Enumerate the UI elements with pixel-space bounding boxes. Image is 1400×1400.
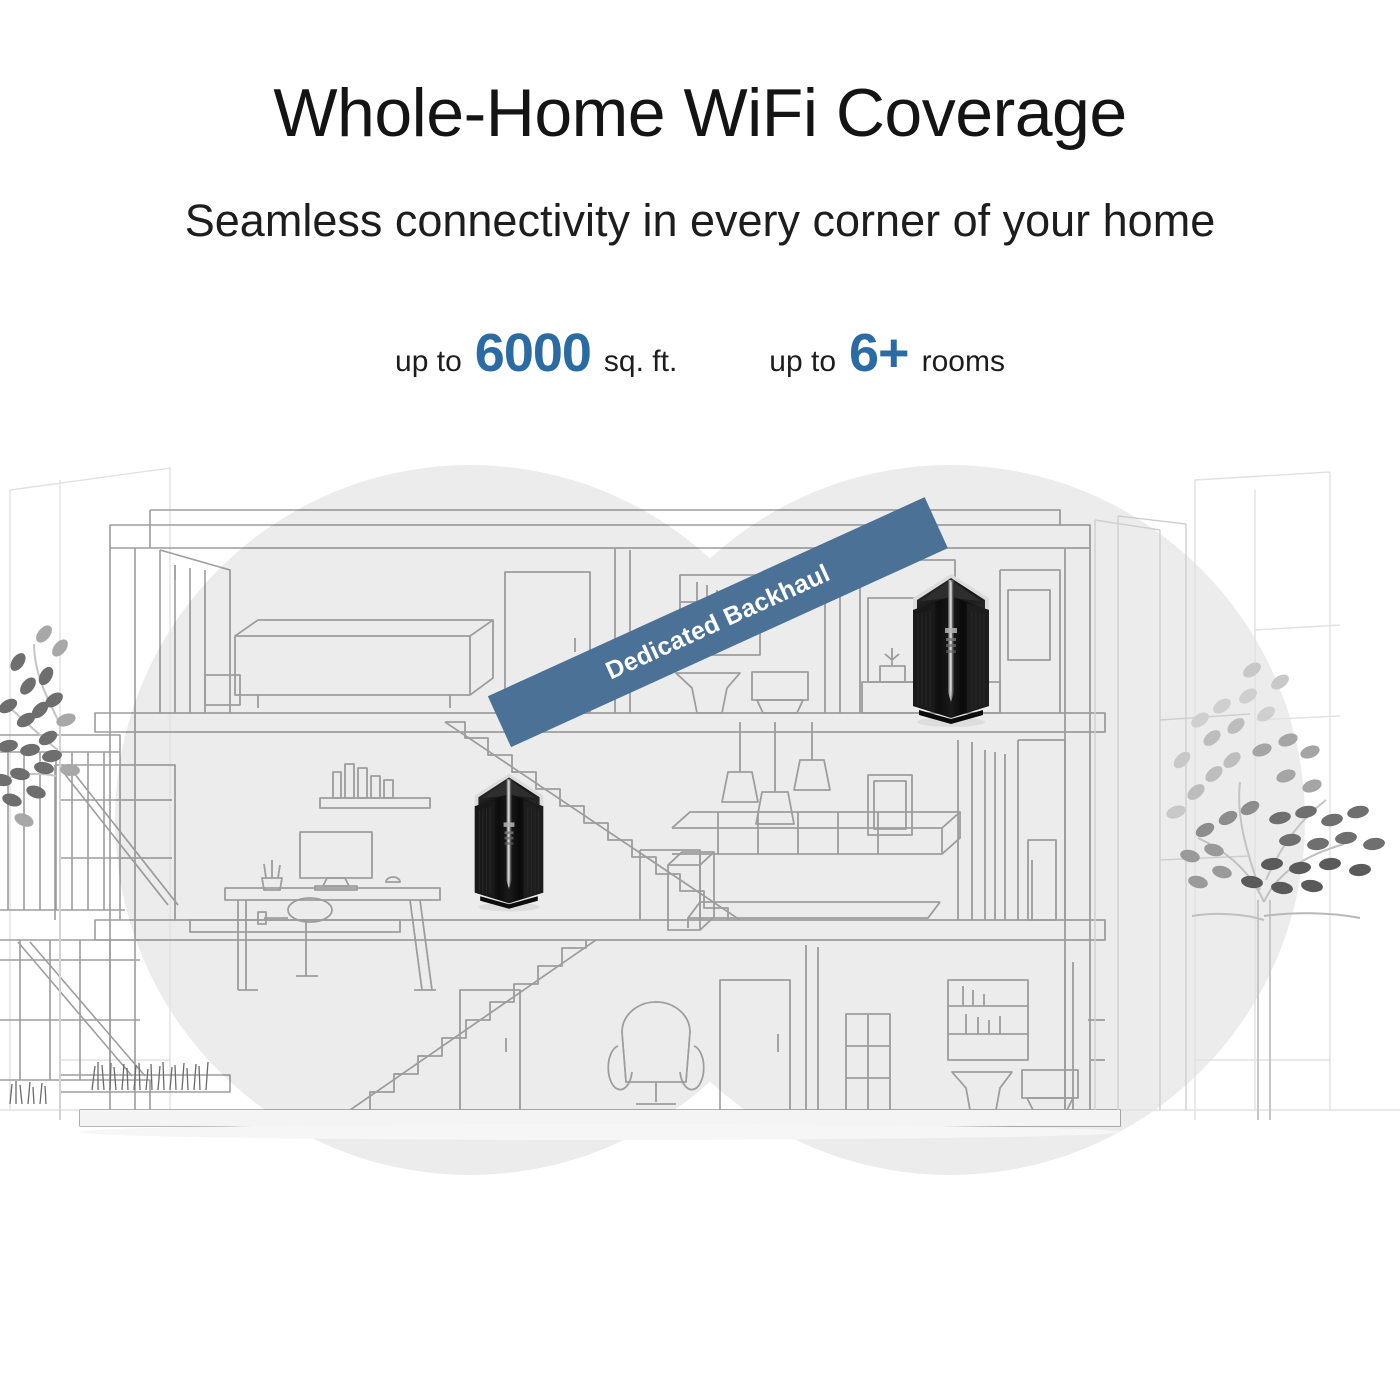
lower-floor-router[interactable] <box>464 772 554 912</box>
stat-area: up to 6000 sq. ft. <box>395 326 677 380</box>
house-illustration <box>0 420 1400 1180</box>
wifi-coverage-infographic: Whole-Home WiFi Coverage Seamless connec… <box>0 0 1400 1400</box>
stat-area-value: 6000 <box>475 326 591 380</box>
stat-rooms-unit: rooms <box>922 345 1005 379</box>
ground-shadow <box>80 1110 1120 1140</box>
grass-tufts <box>10 1062 208 1104</box>
stat-rooms-value: 6+ <box>849 326 909 380</box>
stats-row: up to 6000 sq. ft. up to 6+ rooms <box>0 326 1400 380</box>
page-title: Whole-Home WiFi Coverage <box>0 78 1400 149</box>
stat-rooms: up to 6+ rooms <box>769 326 1005 380</box>
stat-rooms-prefix: up to <box>769 345 836 379</box>
page-subtitle: Seamless connectivity in every corner of… <box>0 196 1400 246</box>
coverage-circles <box>115 465 1305 1175</box>
stat-area-unit: sq. ft. <box>604 345 677 379</box>
stat-area-prefix: up to <box>395 345 462 379</box>
upper-floor-router[interactable] <box>901 572 1001 727</box>
